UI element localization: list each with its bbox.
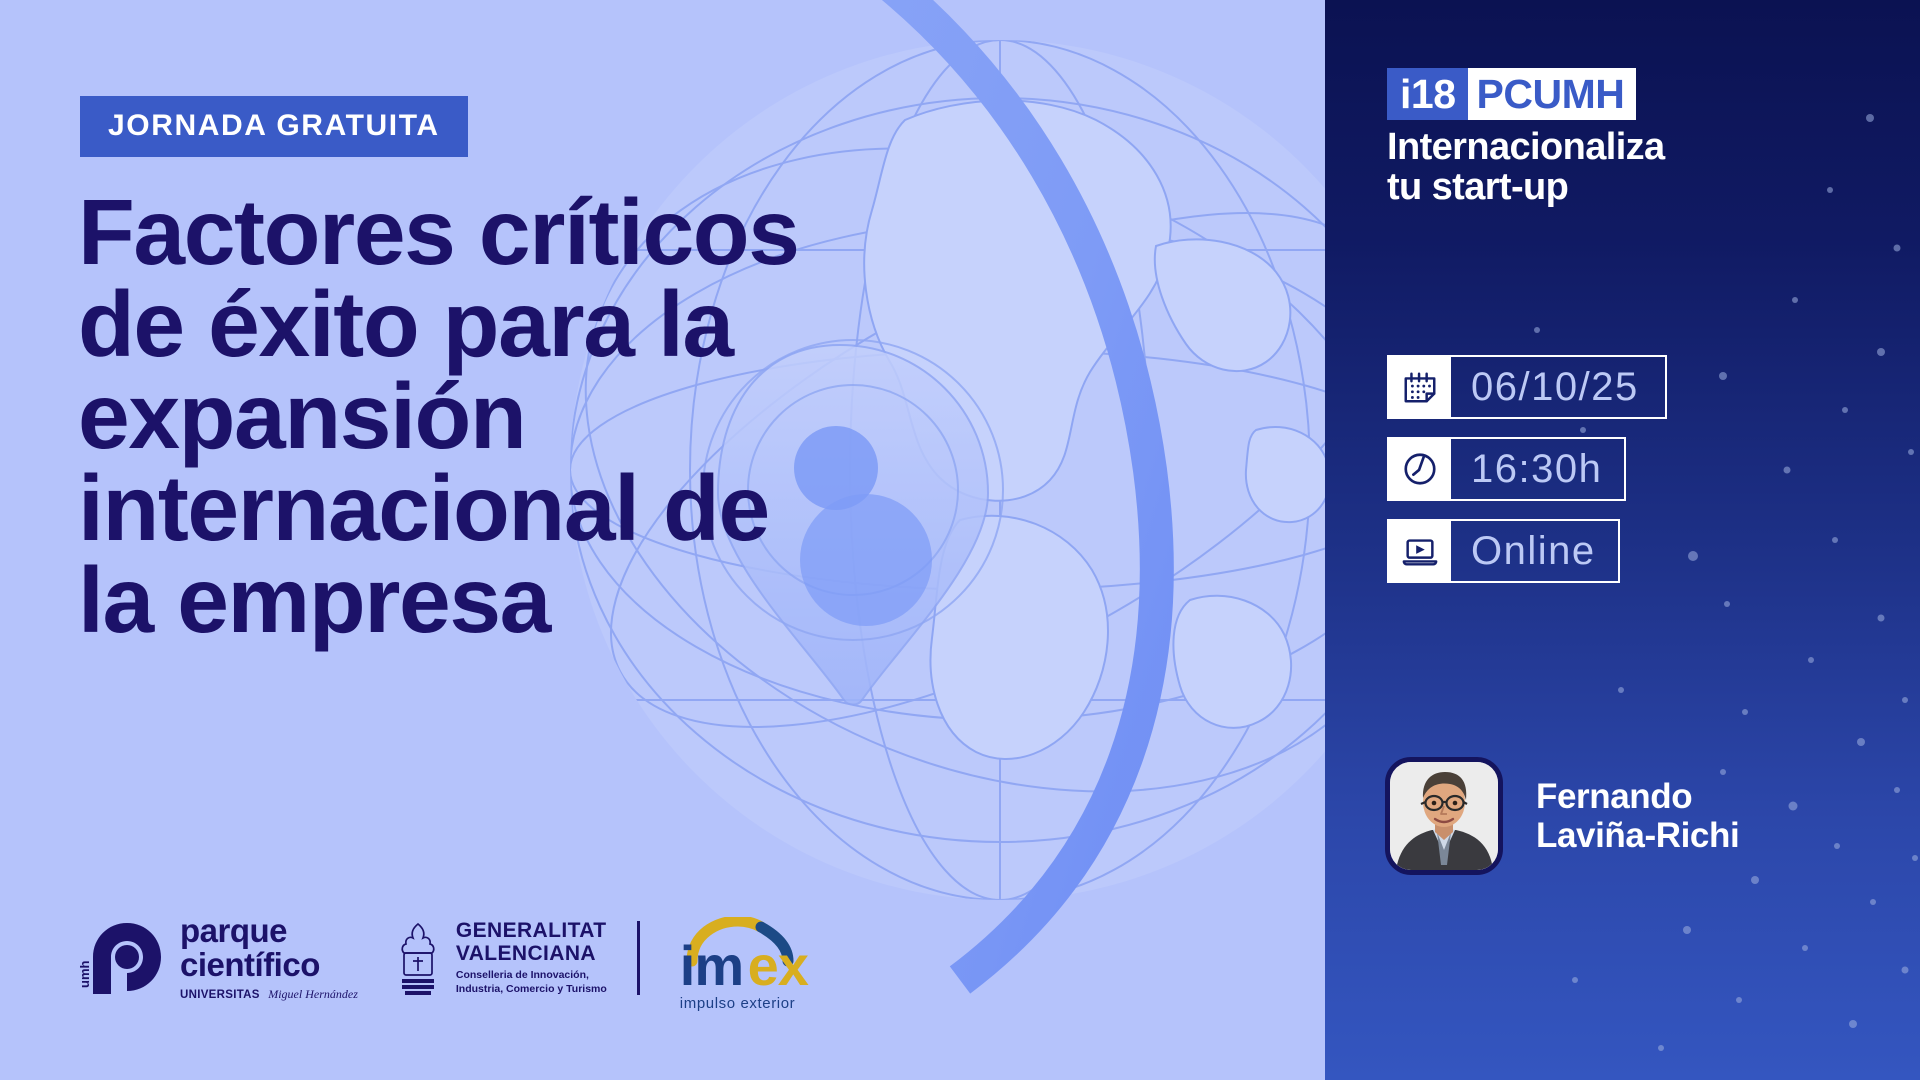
gva-line1: GENERALITAT (456, 920, 607, 941)
gva-line2: VALENCIANA (456, 943, 607, 964)
headline-line-2: de éxito para la (78, 278, 1078, 370)
headline-line-5: la empresa (78, 554, 1078, 646)
parque-cientifico-line1: parque (180, 914, 358, 947)
parque-cientifico-line2: científico (180, 948, 358, 981)
logo-tagline-line1: Internacionaliza (1387, 127, 1665, 167)
parque-cientifico-universitas: UNIVERSITAS (180, 989, 260, 1001)
speaker-block: Fernando Laviña-Richi (1385, 757, 1739, 875)
speaker-name: Fernando Laviña-Richi (1536, 777, 1739, 855)
event-location-value: Online (1451, 521, 1618, 581)
logo-tagline: Internacionaliza tu start-up (1387, 127, 1665, 208)
event-time-value: 16:30h (1451, 439, 1624, 499)
gva-sub-line1: Conselleria de Innovación, (456, 969, 607, 982)
imex-tagline: impulso exterior (680, 996, 808, 1011)
poster-canvas: JORNADA GRATUITA Factores críticos de éx… (0, 0, 1920, 1080)
headline-line-3: expansión (78, 370, 1078, 462)
generalitat-shield-icon (392, 921, 444, 995)
event-date-value: 06/10/25 (1451, 357, 1665, 417)
webinar-icon (1389, 521, 1451, 581)
free-event-badge: JORNADA GRATUITA (80, 96, 468, 157)
logo-tagline-line2: tu start-up (1387, 167, 1665, 207)
headline-line-1: Factores críticos (78, 186, 1078, 278)
event-logo-lockup: i18 PCUMH Internacionaliza tu start-up (1387, 68, 1665, 208)
free-event-badge-label: JORNADA GRATUITA (108, 109, 440, 142)
logo-parque-cientifico-umh: umh parque científico UNIVERSITAS Miguel… (80, 914, 358, 1002)
gva-sub-line2: Industria, Comercio y Turismo (456, 983, 607, 996)
calendar-icon (1389, 357, 1451, 417)
headline-line-4: internacional de (78, 462, 1078, 554)
event-time-badge: 16:30h (1387, 437, 1626, 501)
parque-cientifico-miguel-hernandez: Miguel Hernández (268, 987, 358, 1001)
event-info-badges: 06/10/25 16:30h (1387, 355, 1667, 601)
right-panel: i18 PCUMH Internacionaliza tu start-up (1325, 0, 1920, 1080)
parque-cientifico-mark-icon: umh (80, 920, 168, 996)
speaker-name-line1: Fernando (1536, 777, 1739, 816)
event-location-badge: Online (1387, 519, 1620, 583)
logo-word-pcumh: PCUMH (1468, 68, 1637, 120)
imex-word-dark: im (680, 934, 743, 997)
logo-row: i18 PCUMH (1387, 68, 1665, 120)
speaker-portrait-image (1390, 762, 1498, 870)
logo-mark-i18: i18 (1387, 68, 1468, 120)
event-date-badge: 06/10/25 (1387, 355, 1667, 419)
logo-imex: im ex impulso exterior (676, 917, 808, 999)
sponsor-divider (637, 921, 640, 995)
logo-generalitat-valenciana: GENERALITAT VALENCIANA Conselleria de In… (392, 920, 607, 995)
page-title: Factores críticos de éxito para la expan… (78, 186, 1078, 646)
imex-word-gold: ex (748, 934, 808, 997)
svg-text:umh: umh (80, 961, 92, 989)
clock-icon (1389, 439, 1451, 499)
speaker-name-line2: Laviña-Richi (1536, 816, 1739, 855)
left-panel: JORNADA GRATUITA Factores críticos de éx… (0, 0, 1325, 1080)
sponsor-logo-strip: umh parque científico UNIVERSITAS Miguel… (80, 914, 808, 1002)
speaker-avatar (1385, 757, 1503, 875)
